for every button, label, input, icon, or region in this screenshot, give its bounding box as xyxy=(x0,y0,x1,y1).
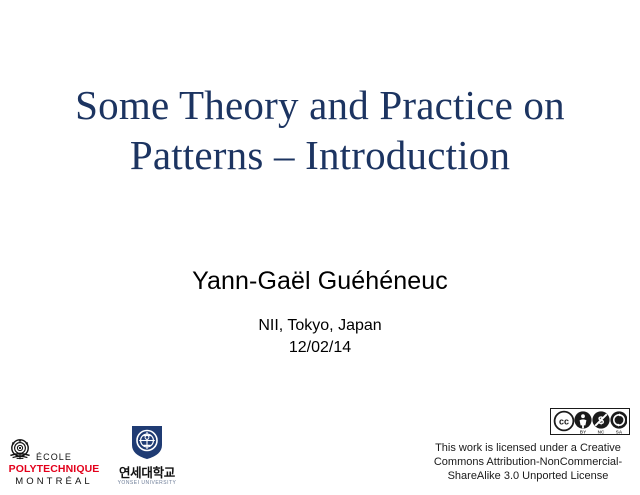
license-text-line-2: Commons Attribution-NonCommercial- xyxy=(426,455,630,469)
license-text-line-1: This work is licensed under a Creative xyxy=(426,441,630,455)
title-line-2: Patterns – Introduction xyxy=(0,130,640,180)
cc-nc-icon: $ NC xyxy=(592,411,609,434)
svg-text:cc: cc xyxy=(559,417,569,427)
slide-title: Some Theory and Practice on Patterns – I… xyxy=(0,80,640,180)
venue-location: NII, Tokyo, Japan xyxy=(0,315,640,337)
yonsei-university-logo: 연세대학교 YONSEI UNIVERSITY xyxy=(116,424,178,487)
svg-text:SA: SA xyxy=(616,429,623,434)
svg-text:NC: NC xyxy=(598,429,605,434)
yonsei-korean-name: 연세대학교 xyxy=(119,467,175,480)
yonsei-english-name: YONSEI UNIVERSITY xyxy=(118,480,177,487)
creative-commons-by-nc-sa-badge[interactable]: cc BY $ NC xyxy=(550,408,630,435)
cc-badge-wrapper: cc BY $ NC xyxy=(426,408,630,435)
polytechnique-logo-top: ÉCOLE xyxy=(8,440,100,464)
polytechnique-montreal-label: MONTRÉAL xyxy=(15,476,93,487)
license-text: This work is licensed under a Creative C… xyxy=(426,441,630,483)
cc-icon: cc xyxy=(555,412,574,431)
institution-logo-row: ÉCOLE POLYTECHNIQUE MONTRÉAL 연세대학교 YONSE… xyxy=(8,424,178,487)
svg-text:BY: BY xyxy=(580,429,586,434)
presentation-title-slide: Some Theory and Practice on Patterns – I… xyxy=(0,0,640,495)
presentation-date: 12/02/14 xyxy=(0,337,640,359)
license-block: cc BY $ NC xyxy=(426,408,630,483)
polytechnique-montreal-logo: ÉCOLE POLYTECHNIQUE MONTRÉAL xyxy=(8,440,100,487)
cc-by-icon: BY xyxy=(574,411,591,434)
title-line-1: Some Theory and Practice on xyxy=(0,80,640,130)
polytechnique-wordmark: POLYTECHNIQUE xyxy=(9,464,100,475)
cc-sa-icon: SA xyxy=(610,411,627,434)
slide-subtitle: Yann-Gaël Guéhéneuc NII, Tokyo, Japan 12… xyxy=(0,266,640,359)
yonsei-shield-icon xyxy=(130,424,164,465)
license-text-line-3: ShareAlike 3.0 Unported License xyxy=(426,469,630,483)
author-name: Yann-Gaël Guéhéneuc xyxy=(0,266,640,297)
